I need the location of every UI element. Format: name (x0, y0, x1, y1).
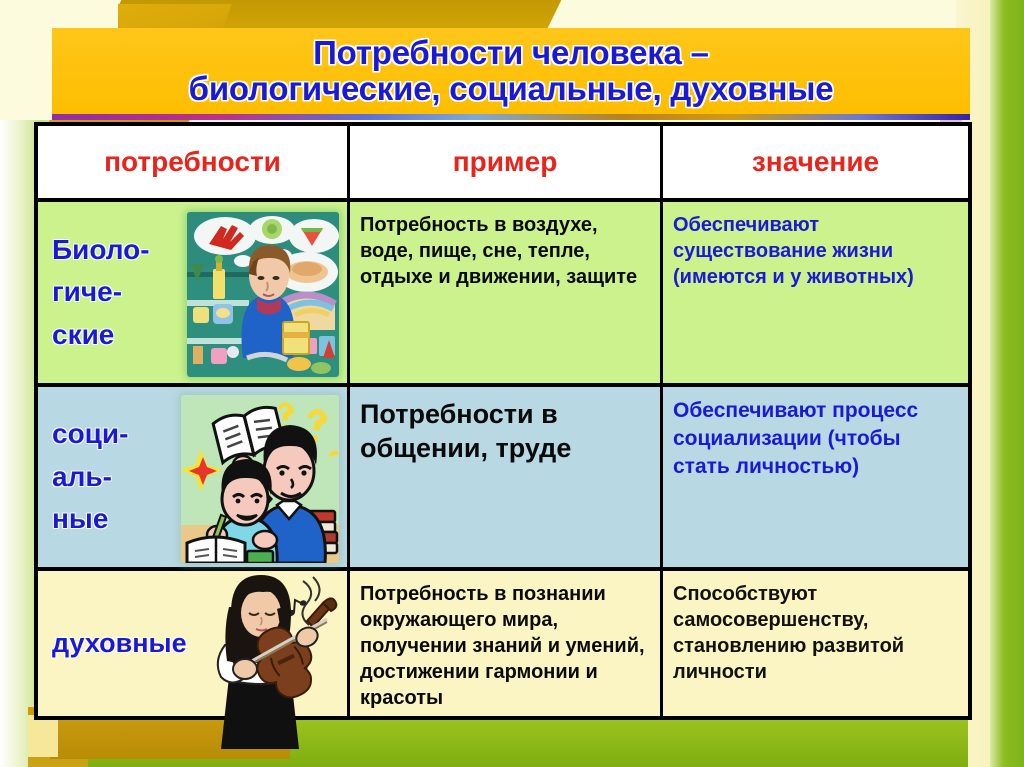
row-label-social: соци-аль-ные (52, 413, 128, 541)
row-label-cell-social: соци-аль-ные (38, 387, 350, 567)
header-label-example: пример (453, 146, 558, 178)
header-cell-needs: потребности (38, 126, 350, 198)
slide-title-banner: Потребности человека – биологические, со… (52, 28, 970, 119)
header-cell-significance: значение (663, 126, 968, 198)
title-underline-rainbow (52, 114, 970, 120)
significance-cell-social: Обеспечивают процесс социализации (чтобы… (663, 387, 968, 567)
row-label-biological: Биоло-гиче-ские (52, 229, 150, 357)
row-label-cell-biological: Биоло-гиче-ские (38, 202, 350, 383)
example-cell-spiritual: Потребность в познании окружающего мира,… (350, 571, 663, 716)
significance-cell-spiritual: Способствуют самосовершенству, становлен… (663, 571, 968, 716)
header-label-needs: потребности (104, 146, 281, 178)
significance-text-social: Обеспечивают процесс социализации (чтобы… (663, 387, 968, 481)
table-header-row: потребности пример значение (38, 126, 968, 198)
slide-canvas: Потребности человека – биологические, со… (0, 0, 1024, 767)
row-label-cell-spiritual: духовные (38, 571, 350, 716)
slide-title-line-1: Потребности человека – (313, 35, 709, 71)
significance-text-spiritual: Способствуют самосовершенству, становлен… (663, 571, 968, 685)
bottom-cream-block (28, 715, 58, 757)
example-text-biological: Потребность в воздухе, воде, пище, сне, … (350, 202, 660, 290)
needs-table: потребности пример значение Биоло-гиче-с… (34, 122, 972, 720)
woman-shopping-illustration (187, 212, 339, 377)
example-text-spiritual: Потребность в познании окружающего мира,… (350, 571, 660, 711)
table-row: соци-аль-ные (38, 383, 968, 567)
significance-cell-biological: Обеспечивают существование жизни (имеютс… (663, 202, 968, 383)
example-text-social: Потребности в общении, труде (350, 387, 660, 465)
teacher-and-student-illustration (181, 395, 339, 563)
right-green-border (990, 0, 1024, 767)
example-cell-biological: Потребность в воздухе, воде, пище, сне, … (350, 202, 663, 383)
slide-title-line-2: биологические, социальные, духовные (189, 71, 834, 107)
significance-text-biological: Обеспечивают существование жизни (имеютс… (663, 202, 968, 290)
table-row: духовные (38, 567, 968, 716)
header-cell-example: пример (350, 126, 663, 198)
violinist-illustration (211, 573, 343, 749)
example-cell-social: Потребности в общении, труде (350, 387, 663, 567)
row-label-spiritual: духовные (52, 623, 187, 664)
header-label-significance: значение (752, 146, 879, 178)
table-row: Биоло-гиче-ские (38, 198, 968, 383)
